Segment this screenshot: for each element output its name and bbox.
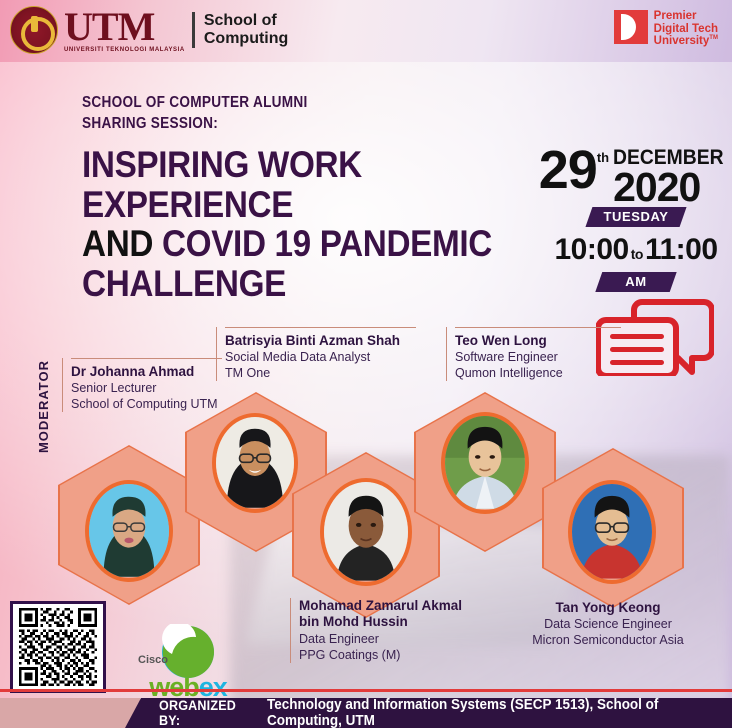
utm-seal-icon bbox=[10, 6, 58, 54]
date-day: 29 bbox=[539, 148, 597, 192]
person-role-1: Senior Lecturer bbox=[71, 380, 222, 396]
person-name-4: Mohamad Zamarul Akmal bbox=[299, 598, 500, 614]
title-line-1: INSPIRING WORK EXPERIENCE bbox=[82, 145, 505, 224]
webex-mark-icon bbox=[160, 624, 216, 680]
school-of-computing-wordmark: School of Computing bbox=[204, 12, 288, 48]
person-role-3: Software Engineer bbox=[455, 349, 621, 365]
header-bar: UTM UNIVERSITI TEKNOLOGI MALAYSIA School… bbox=[0, 0, 732, 62]
premier-digital-tech-university-logo: Premier Digital Tech UniversityTM bbox=[614, 10, 718, 48]
namecard-tan-yong-keong: Tan Yong Keong Data Science Engineer Mic… bbox=[508, 600, 708, 648]
namecard-tick-3 bbox=[455, 327, 621, 328]
pdtu-wordmark: Premier Digital Tech UniversityTM bbox=[654, 10, 718, 48]
poster-canvas: UTM UNIVERSITI TEKNOLOGI MALAYSIA School… bbox=[0, 0, 732, 728]
kicker-line-2: SHARING SESSION: bbox=[82, 114, 308, 135]
school-line-2: Computing bbox=[204, 30, 288, 48]
person-name-2: Batrisyia Binti Azman Shah bbox=[225, 333, 416, 349]
person-org-2: TM One bbox=[225, 365, 416, 381]
utm-acronym: UTM bbox=[64, 8, 185, 46]
title-line-2-and: AND bbox=[82, 223, 153, 264]
date-year: 2020 bbox=[613, 169, 732, 205]
person-role-2: Social Media Data Analyst bbox=[225, 349, 416, 365]
namecard-edge-1 bbox=[62, 358, 63, 412]
meridiem-ribbon: AM bbox=[595, 272, 676, 292]
pdtu-line-2: Digital Tech bbox=[654, 23, 718, 36]
portrait-batrisyia-binti-azman-shah bbox=[212, 413, 298, 513]
portrait-mohamad-zamarul-akmal bbox=[320, 478, 412, 586]
date-time-block: 29 th DECEMBER 2020 TUESDAY 10:00 to 11:… bbox=[552, 148, 720, 292]
footer-left-fill bbox=[0, 698, 140, 728]
pdtu-line-3: UniversityTM bbox=[654, 35, 718, 48]
logo-divider bbox=[192, 12, 195, 48]
person-role-4: Data Engineer bbox=[299, 631, 500, 647]
event-kicker: SCHOOL OF COMPUTER ALUMNI SHARING SESSIO… bbox=[82, 93, 308, 135]
namecard-tick-1 bbox=[71, 358, 222, 359]
organizer-name: Technology and Information Systems (SECP… bbox=[267, 697, 699, 728]
utm-logo: UTM UNIVERSITI TEKNOLOGI MALAYSIA School… bbox=[10, 6, 288, 54]
pdtu-d-mark-icon bbox=[614, 10, 648, 44]
namecard-teo-wen-long: Teo Wen Long Software Engineer Qumon Int… bbox=[446, 327, 621, 381]
person-role-5: Data Science Engineer bbox=[508, 616, 708, 632]
person-org-3: Qumon Intelligence bbox=[455, 365, 621, 381]
event-title: INSPIRING WORK EXPERIENCE AND COVID 19 P… bbox=[82, 145, 505, 303]
footer-bar: ORGANIZED BY: Technology and Information… bbox=[125, 698, 732, 728]
organized-by-label: ORGANIZED BY: bbox=[159, 698, 247, 728]
cisco-wordmark: Cisco bbox=[138, 654, 168, 666]
person-name-1: Dr Johanna Ahmad bbox=[71, 364, 222, 380]
namecard-edge-3 bbox=[446, 327, 447, 381]
date-ordinal: th bbox=[597, 150, 609, 165]
date-row: 29 th DECEMBER 2020 bbox=[552, 148, 720, 205]
person-name-4-cont: bin Mohd Hussin bbox=[299, 614, 500, 630]
portrait-dr-johanna-ahmad bbox=[85, 480, 173, 582]
pdtu-trademark: TM bbox=[709, 35, 718, 41]
utm-wordmark: UTM UNIVERSITI TEKNOLOGI MALAYSIA bbox=[64, 8, 185, 53]
portrait-tan-yong-keong bbox=[568, 480, 656, 584]
utm-tagline: UNIVERSITI TEKNOLOGI MALAYSIA bbox=[64, 47, 185, 53]
date-month: DECEMBER bbox=[613, 148, 724, 168]
namecard-edge-2 bbox=[216, 327, 217, 381]
moderator-label: MODERATOR bbox=[36, 360, 51, 453]
person-org-5: Micron Semiconductor Asia bbox=[508, 632, 708, 648]
person-name-5: Tan Yong Keong bbox=[508, 600, 708, 616]
namecard-mohamad-zamarul-akmal: Mohamad Zamarul Akmal bin Mohd Hussin Da… bbox=[290, 598, 500, 663]
footer-red-rule bbox=[0, 689, 732, 692]
title-line-2-rest: COVID 19 PANDEMIC bbox=[162, 223, 492, 264]
kicker-line-1: SCHOOL OF COMPUTER ALUMNI bbox=[82, 93, 308, 114]
time-end: 11:00 bbox=[645, 233, 718, 267]
time-start: 10:00 bbox=[554, 233, 628, 267]
weekday-ribbon: TUESDAY bbox=[585, 207, 686, 227]
qr-code[interactable] bbox=[10, 601, 106, 693]
title-line-2: AND COVID 19 PANDEMIC bbox=[82, 224, 505, 264]
date-month-year: DECEMBER 2020 bbox=[613, 148, 732, 205]
person-org-4: PPG Coatings (M) bbox=[299, 647, 500, 663]
person-org-1: School of Computing UTM bbox=[71, 396, 222, 412]
namecard-batrisyia-binti-azman-shah: Batrisyia Binti Azman Shah Social Media … bbox=[216, 327, 416, 381]
time-range: 10:00 to 11:00 bbox=[552, 233, 720, 267]
portrait-teo-wen-long bbox=[441, 412, 529, 514]
time-join-word: to bbox=[631, 246, 643, 262]
namecard-tick-2 bbox=[225, 327, 416, 328]
namecard-dr-johanna-ahmad: Dr Johanna Ahmad Senior Lecturer School … bbox=[62, 358, 222, 412]
pdtu-line-1: Premier bbox=[654, 10, 718, 23]
title-line-3: CHALLENGE bbox=[82, 264, 505, 304]
school-line-1: School of bbox=[204, 12, 288, 30]
namecard-edge-4 bbox=[290, 598, 291, 663]
person-name-3: Teo Wen Long bbox=[455, 333, 621, 349]
